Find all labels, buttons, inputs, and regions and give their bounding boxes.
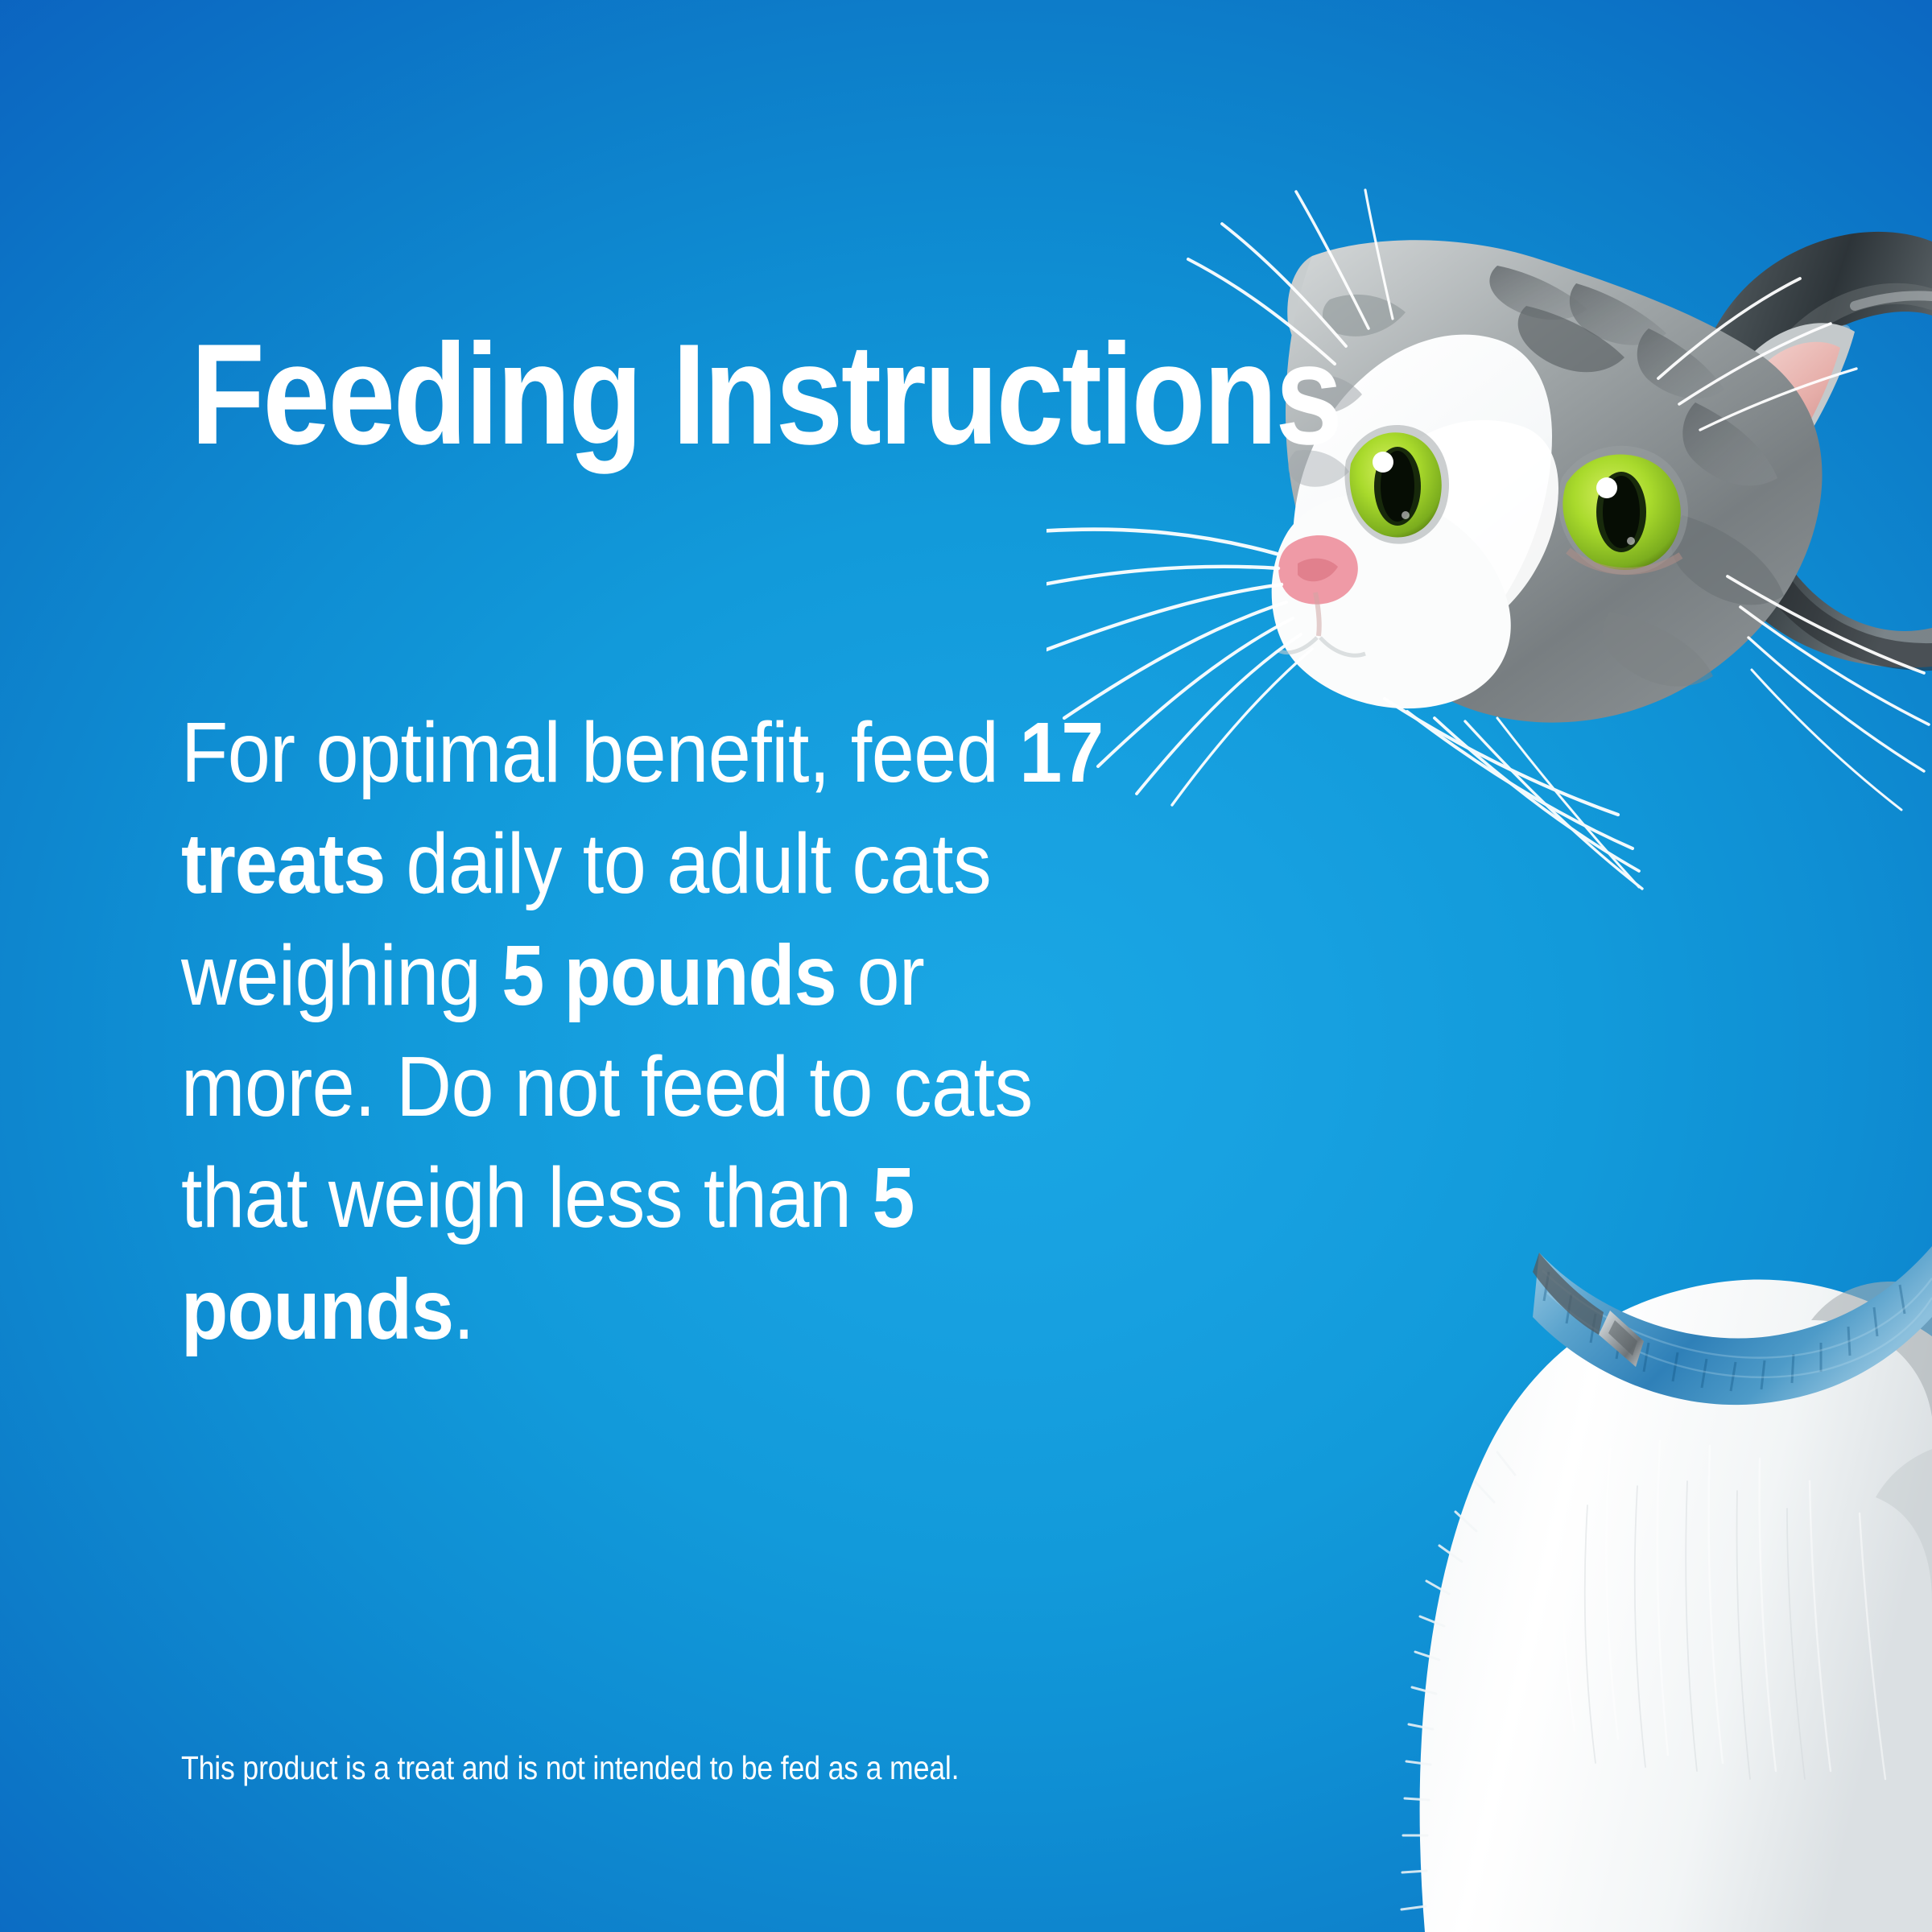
cat-ear-right [1740, 323, 1855, 477]
feeding-instructions-panel: Feeding Instructions For optimal benefit… [0, 0, 1932, 1932]
collar-buckle [1533, 1253, 1644, 1367]
page-title: Feeding Instructions [191, 323, 1340, 466]
cat-eye-left [1344, 425, 1449, 544]
feeding-instructions-text: For optimal benefit, feed 17 treats dail… [181, 697, 1116, 1365]
cat-collar [1533, 1246, 1932, 1405]
cat-head [1272, 240, 1855, 722]
footnote-disclaimer: This product is a treat and is not inten… [181, 1749, 959, 1787]
cat-nose [1278, 535, 1358, 636]
text-column: Feeding Instructions For optimal benefit… [181, 0, 1244, 1932]
cat-body [1402, 1280, 1932, 1932]
instr-seg-6-period: . [453, 1262, 474, 1357]
cat-tail [1687, 232, 1932, 667]
instr-seg-0: For optimal benefit, feed [181, 705, 1019, 800]
cat-eye-right [1558, 446, 1688, 575]
instr-seg-3-weight: 5 pounds [502, 928, 836, 1023]
